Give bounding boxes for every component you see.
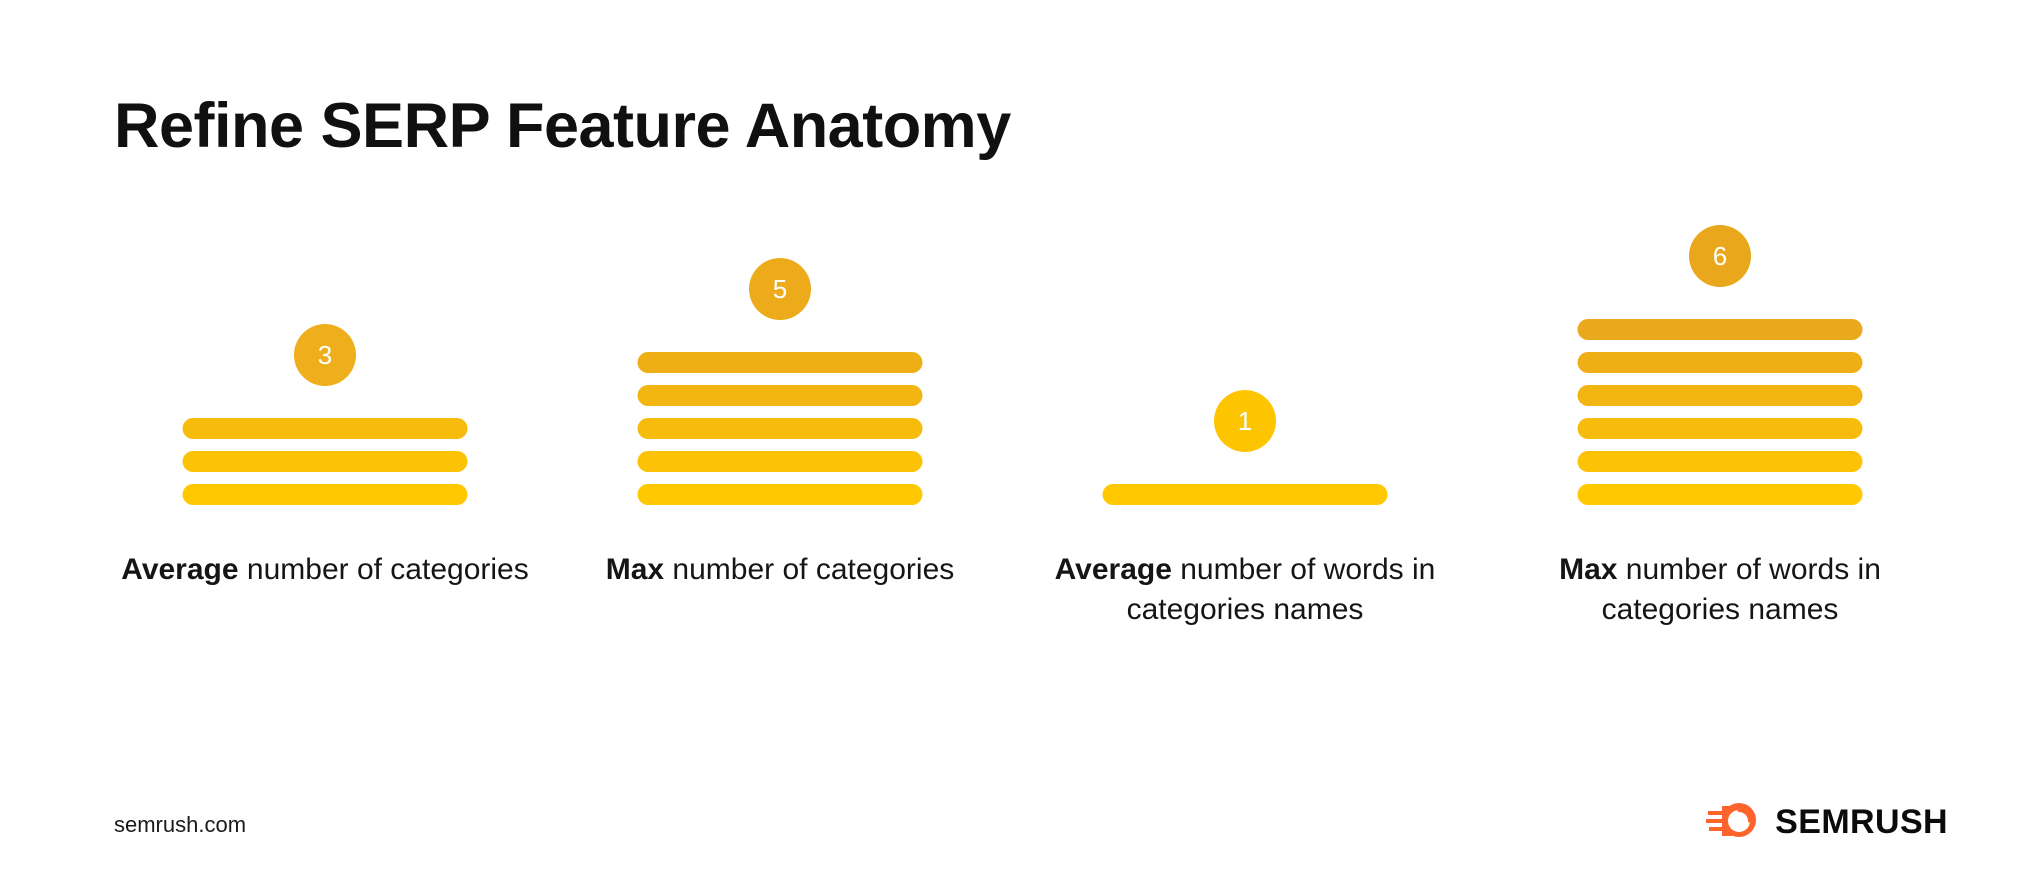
bar-stack xyxy=(183,418,468,505)
semrush-comet-icon xyxy=(1706,800,1762,845)
caption-emphasis: Max xyxy=(606,553,664,586)
caption-emphasis: Max xyxy=(1559,553,1617,586)
chart-column-4: 6Max number of words in categories names xyxy=(1510,250,1930,690)
column-caption: Max number of words in categories names xyxy=(1510,550,1930,629)
bar-unit xyxy=(1103,484,1388,505)
bar-unit xyxy=(1578,385,1863,406)
bar-stack-chart: 3Average number of categories5Max number… xyxy=(0,0,2020,876)
value-badge: 6 xyxy=(1689,225,1751,287)
bar-unit xyxy=(638,385,923,406)
bar-unit xyxy=(1578,451,1863,472)
column-caption: Average number of categories xyxy=(115,550,535,590)
bar-unit xyxy=(1578,418,1863,439)
infographic-canvas: Refine SERP Feature Anatomy 3Average num… xyxy=(0,0,2020,876)
caption-emphasis: Average xyxy=(1055,553,1172,586)
semrush-wordmark: SEMRUSH xyxy=(1775,803,1948,842)
caption-line-2: of categories xyxy=(357,553,529,586)
chart-column-2: 5Max number of categories xyxy=(570,250,990,690)
bar-unit xyxy=(183,418,468,439)
chart-column-1: 3Average number of categories xyxy=(115,250,535,690)
bar-unit xyxy=(1578,319,1863,340)
caption-emphasis: Average xyxy=(121,553,238,586)
caption-line-2: in categories names xyxy=(1602,553,1881,626)
value-badge: 3 xyxy=(294,324,356,386)
column-caption: Max number of categories xyxy=(570,550,990,590)
value-badge: 5 xyxy=(749,258,811,320)
bar-unit xyxy=(638,352,923,373)
bar-unit xyxy=(638,484,923,505)
bar-stack xyxy=(638,352,923,505)
column-caption: Average number of words in categories na… xyxy=(1035,550,1455,629)
bar-unit xyxy=(183,484,468,505)
value-badge: 1 xyxy=(1214,390,1276,452)
bar-unit xyxy=(1578,352,1863,373)
bar-stack xyxy=(1578,319,1863,505)
bar-unit xyxy=(183,451,468,472)
semrush-logo: SEMRUSH xyxy=(1706,800,1948,845)
caption-line-2: of words in categories names xyxy=(1127,553,1436,626)
bar-unit xyxy=(638,451,923,472)
site-url-label: semrush.com xyxy=(114,812,246,838)
caption-line-2: of categories xyxy=(782,553,954,586)
bar-unit xyxy=(638,418,923,439)
bar-stack xyxy=(1103,484,1388,505)
bar-unit xyxy=(1578,484,1863,505)
chart-column-3: 1Average number of words in categories n… xyxy=(1035,250,1455,690)
